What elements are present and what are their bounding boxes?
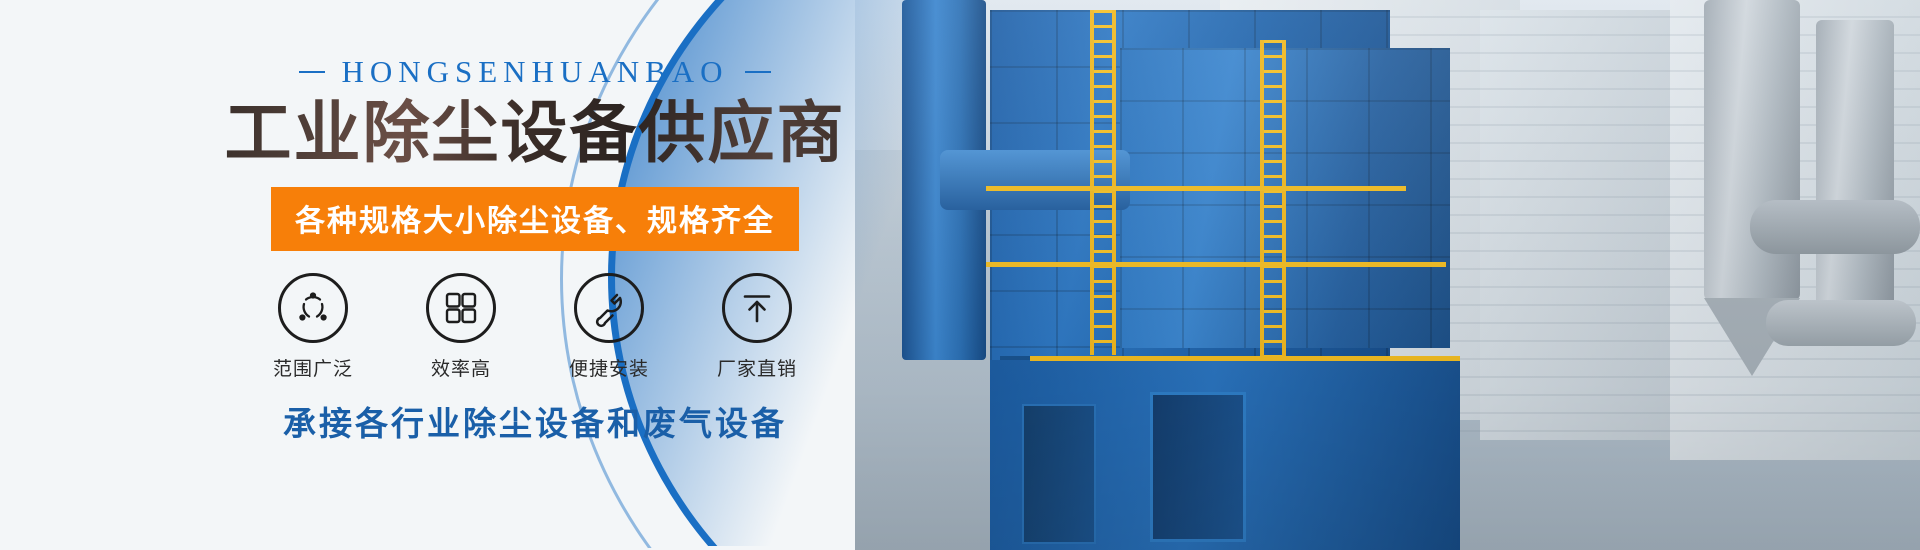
feature-label: 便捷安装: [566, 354, 652, 381]
feature-item-direct-sales[interactable]: 厂家直销: [714, 273, 800, 381]
feature-item-efficiency[interactable]: 效率高: [418, 273, 504, 381]
grid-squares-icon: [442, 289, 480, 327]
wrench-icon: [589, 288, 629, 328]
brand-eyebrow: HONGSENHUANBAO: [150, 54, 920, 90]
eyebrow-dash-right: [745, 71, 771, 73]
banner-content: HONGSENHUANBAO 工业除尘设备供应商 各种规格大小除尘设备、规格齐全: [150, 54, 920, 514]
feature-icon-circle: [278, 273, 348, 343]
banner-tagline: 承接各行业除尘设备和废气设备: [150, 397, 920, 445]
feature-icon-circle: [426, 273, 496, 343]
eyebrow-text: HONGSENHUANBAO: [341, 54, 728, 90]
eyebrow-dash-left: [299, 71, 325, 73]
hero-banner: HONGSENHUANBAO 工业除尘设备供应商 各种规格大小除尘设备、规格齐全: [0, 0, 1920, 550]
feature-list: 范围广泛 效率高: [150, 273, 920, 381]
arrow-up-bar-icon: [738, 289, 776, 327]
feature-label: 厂家直销: [714, 354, 800, 381]
status-badge: 各种规格大小除尘设备、规格齐全: [271, 187, 799, 251]
feature-label: 范围广泛: [270, 354, 356, 381]
share-nodes-icon: [293, 288, 333, 328]
feature-icon-circle: [574, 273, 644, 343]
feature-item-installation[interactable]: 便捷安装: [566, 273, 652, 381]
page-title: 工业除尘设备供应商: [150, 96, 920, 171]
orange-badge-row: 各种规格大小除尘设备、规格齐全: [150, 187, 920, 273]
feature-item-coverage[interactable]: 范围广泛: [270, 273, 356, 381]
feature-label: 效率高: [418, 354, 504, 381]
feature-icon-circle: [722, 273, 792, 343]
